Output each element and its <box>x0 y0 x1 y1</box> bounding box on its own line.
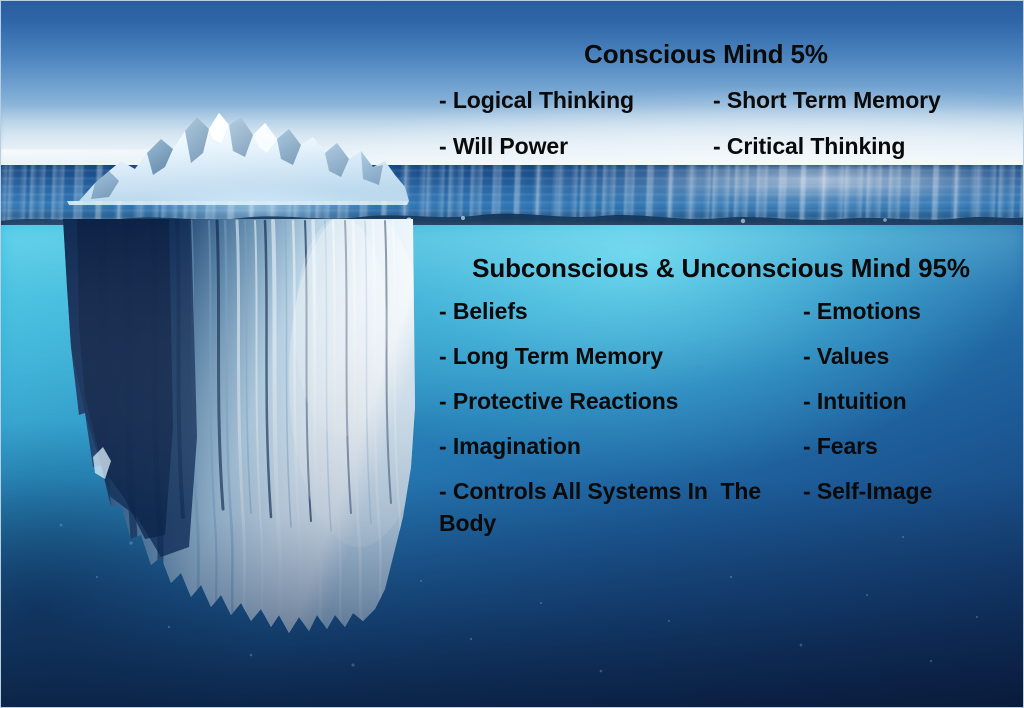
conscious-item-critical-thinking: - Critical Thinking <box>713 132 905 160</box>
subconscious-item-values: - Values <box>803 342 889 370</box>
conscious-item-logical-thinking: - Logical Thinking <box>439 86 634 114</box>
subconscious-item-controls-all-systems-wrap: Body <box>439 509 496 537</box>
subconscious-heading: Subconscious & Unconscious Mind 95% <box>447 253 995 283</box>
subconscious-item-fears: - Fears <box>803 432 878 460</box>
conscious-item-short-term-memory: - Short Term Memory <box>713 86 941 114</box>
conscious-item-will-power: - Will Power <box>439 132 568 160</box>
subconscious-item-long-term-memory: - Long Term Memory <box>439 342 663 370</box>
conscious-heading: Conscious Mind 5% <box>566 39 846 69</box>
subconscious-item-beliefs: - Beliefs <box>439 297 528 325</box>
subconscious-item-controls-all-systems: - Controls All Systems In The <box>439 477 761 505</box>
subconscious-item-emotions: - Emotions <box>803 297 921 325</box>
subconscious-item-imagination: - Imagination <box>439 432 581 460</box>
subconscious-item-self-image: - Self-Image <box>803 477 932 505</box>
subconscious-item-intuition: - Intuition <box>803 387 907 415</box>
iceberg-mass-below-water <box>41 217 441 647</box>
subconscious-item-protective-reactions: - Protective Reactions <box>439 387 678 415</box>
iceberg-mind-infographic: Conscious Mind 5% - Logical Thinking - W… <box>0 0 1024 708</box>
